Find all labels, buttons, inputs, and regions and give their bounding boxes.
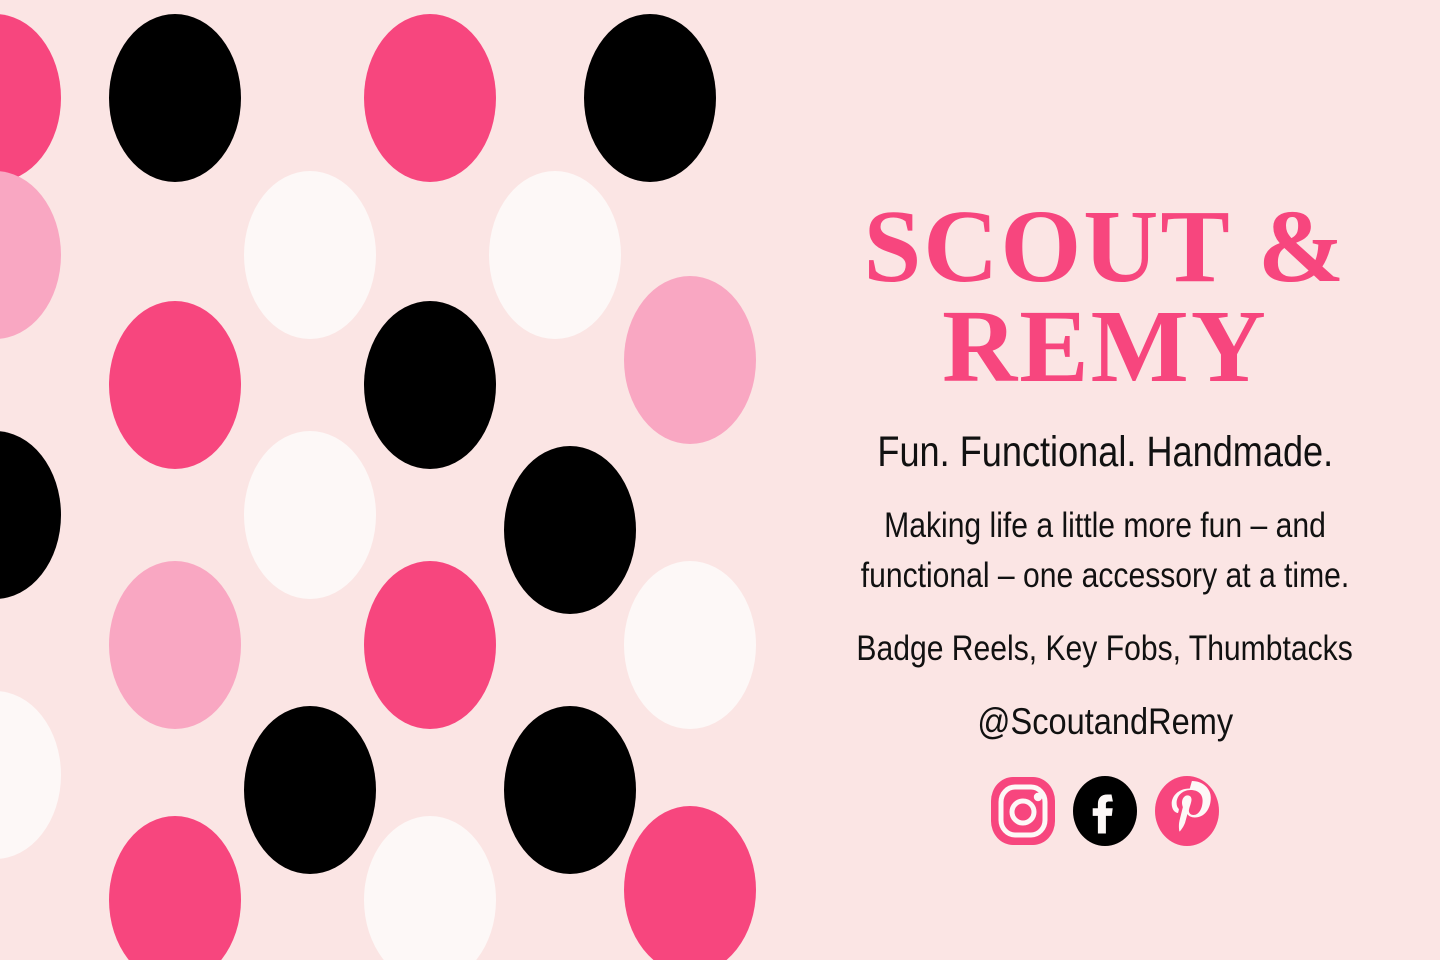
polka-dot: [364, 561, 496, 729]
polka-dot: [504, 706, 636, 874]
social-handle: @ScoutandRemy: [977, 700, 1233, 744]
facebook-icon[interactable]: [1070, 773, 1140, 849]
polka-dot: [0, 691, 61, 859]
polka-dot: [0, 431, 61, 599]
polka-dot: [244, 431, 376, 599]
brand-text-panel: SCOUT & REMY Fun. Functional. Handmade. …: [770, 0, 1440, 960]
polka-dot: [624, 806, 756, 960]
polka-dot: [624, 561, 756, 729]
polka-dot: [364, 816, 496, 960]
polka-dot: [584, 14, 716, 182]
polka-dot: [0, 14, 61, 182]
polka-dot: [244, 706, 376, 874]
polka-dot: [0, 171, 61, 339]
tagline: Fun. Functional. Handmade.: [877, 430, 1333, 475]
brand-title-line-1: SCOUT &: [770, 198, 1440, 296]
polka-dot: [364, 14, 496, 182]
polka-dot: [489, 171, 621, 339]
polka-dot: [624, 276, 756, 444]
brand-title-line-2: REMY: [770, 298, 1440, 396]
polka-dot: [109, 561, 241, 729]
polka-dot: [364, 301, 496, 469]
polka-dot: [109, 816, 241, 960]
blurb-text: Making life a little more fun – and func…: [821, 501, 1389, 603]
product-list: Badge Reels, Key Fobs, Thumbtacks: [857, 628, 1353, 670]
promo-card: SCOUT & REMY Fun. Functional. Handmade. …: [0, 0, 1440, 960]
polka-dot: [504, 446, 636, 614]
polka-dot: [109, 301, 241, 469]
social-icon-row: [988, 773, 1222, 849]
polka-dot: [244, 171, 376, 339]
pinterest-icon[interactable]: [1152, 773, 1222, 849]
instagram-icon[interactable]: [988, 773, 1058, 849]
polka-dot-svg: [0, 0, 790, 960]
polka-dot: [109, 14, 241, 182]
polka-dot-pattern: [0, 0, 790, 960]
